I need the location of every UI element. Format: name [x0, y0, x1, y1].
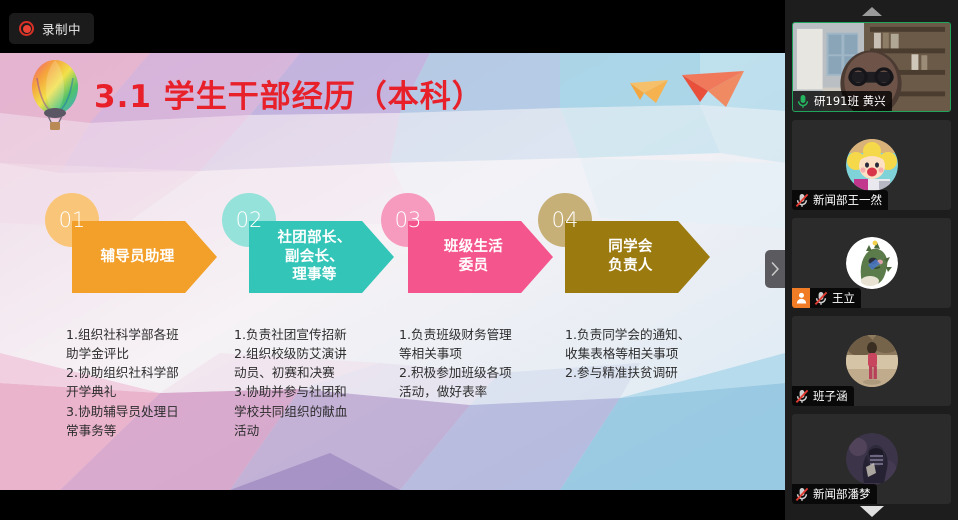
process-step: 社团部长、副会长、理事等 02	[222, 193, 407, 308]
avatar	[846, 335, 898, 387]
step-number: 01	[45, 193, 99, 247]
step-label: 社团部长、副会长、理事等	[278, 229, 366, 285]
process-step: 同学会负责人 04	[538, 193, 723, 308]
meeting-window: 录制中	[0, 0, 958, 520]
mic-on-icon	[796, 94, 810, 109]
detail-column: 1.组织社科学部各班助学金评比2.协助组织社科学部开学典礼3.协助辅导员处理日常…	[66, 325, 226, 440]
participant-tile[interactable]: 班子涵	[792, 316, 951, 406]
chevron-up-icon	[861, 6, 883, 17]
collapse-panel-button[interactable]	[765, 250, 785, 288]
participant-name: 新闻部王一然	[813, 192, 882, 208]
avatar	[846, 433, 898, 485]
mic-muted-icon	[795, 193, 809, 208]
mic-status	[795, 193, 809, 208]
chevron-right-icon	[771, 262, 780, 276]
mic-muted-icon	[795, 487, 809, 502]
participant-name: 新闻部潘梦	[813, 486, 871, 502]
participant-nameplate: 新闻部潘梦	[792, 484, 877, 504]
participant-tile[interactable]: 研191班 黄兴	[792, 22, 951, 112]
paper-planes-decoration	[620, 53, 780, 128]
step-number: 04	[538, 193, 592, 247]
participant-tile[interactable]: 新闻部潘梦	[792, 414, 951, 504]
scroll-up-button[interactable]	[785, 0, 958, 22]
participant-nameplate: 王立	[792, 288, 861, 308]
page-title: 3.1 学生干部经历（本科）	[94, 71, 484, 116]
mic-status	[795, 389, 809, 404]
mic-muted-icon	[795, 389, 809, 404]
participant-nameplate: 研191班 黄兴	[793, 91, 892, 111]
participant-nameplate: 新闻部王一然	[792, 190, 888, 210]
mic-status	[795, 487, 809, 502]
avatar	[846, 139, 898, 191]
participant-name: 王立	[832, 290, 855, 306]
mic-status	[814, 291, 828, 306]
process-steps: 辅导员助理 01 社团部长、副会长、理事等 02 班级生活委员 0	[0, 193, 785, 308]
process-step: 辅导员助理 01	[45, 193, 230, 308]
recording-label: 录制中	[42, 19, 81, 38]
mic-muted-icon	[814, 291, 828, 306]
step-number: 03	[381, 193, 435, 247]
step-label: 班级生活委员	[444, 238, 517, 275]
shared-screen-stage: 录制中	[0, 0, 785, 520]
detail-column: 1.负责社团宣传招新2.组织校级防艾演讲动员、初赛和决赛3.协助并参与社团和学校…	[234, 325, 402, 440]
chevron-down-icon	[859, 505, 885, 518]
hot-air-balloon-icon	[24, 58, 86, 132]
participant-tile[interactable]: 王立	[792, 218, 951, 308]
participant-nameplate: 班子涵	[792, 386, 854, 406]
host-badge-icon	[792, 288, 810, 308]
participant-tiles: 研191班 黄兴 新闻部王一然	[785, 22, 958, 504]
step-label: 同学会负责人	[608, 238, 666, 275]
participant-name: 班子涵	[813, 388, 848, 404]
paper-plane-orange-icon	[630, 80, 668, 103]
participant-filmstrip[interactable]: 研191班 黄兴 新闻部王一然	[785, 0, 958, 520]
step-number: 02	[222, 193, 276, 247]
paper-plane-red-icon	[682, 71, 744, 107]
avatar	[846, 237, 898, 289]
recording-indicator: 录制中	[9, 13, 94, 44]
presentation-slide: 3.1 学生干部经历（本科） 辅导员助理 01 社团部长、副会长、理事等 02	[0, 53, 785, 490]
detail-column: 1.负责班级财务管理等相关事项2.积极参加班级各项活动，做好表率	[399, 325, 561, 402]
step-label: 辅导员助理	[101, 248, 189, 267]
participant-name: 研191班 黄兴	[814, 93, 886, 109]
record-dot-icon	[19, 21, 34, 36]
detail-column: 1.负责同学会的通知、收集表格等相关事项2.参与精准扶贫调研	[565, 325, 735, 382]
mic-status	[796, 94, 810, 109]
participant-tile[interactable]: 新闻部王一然	[792, 120, 951, 210]
